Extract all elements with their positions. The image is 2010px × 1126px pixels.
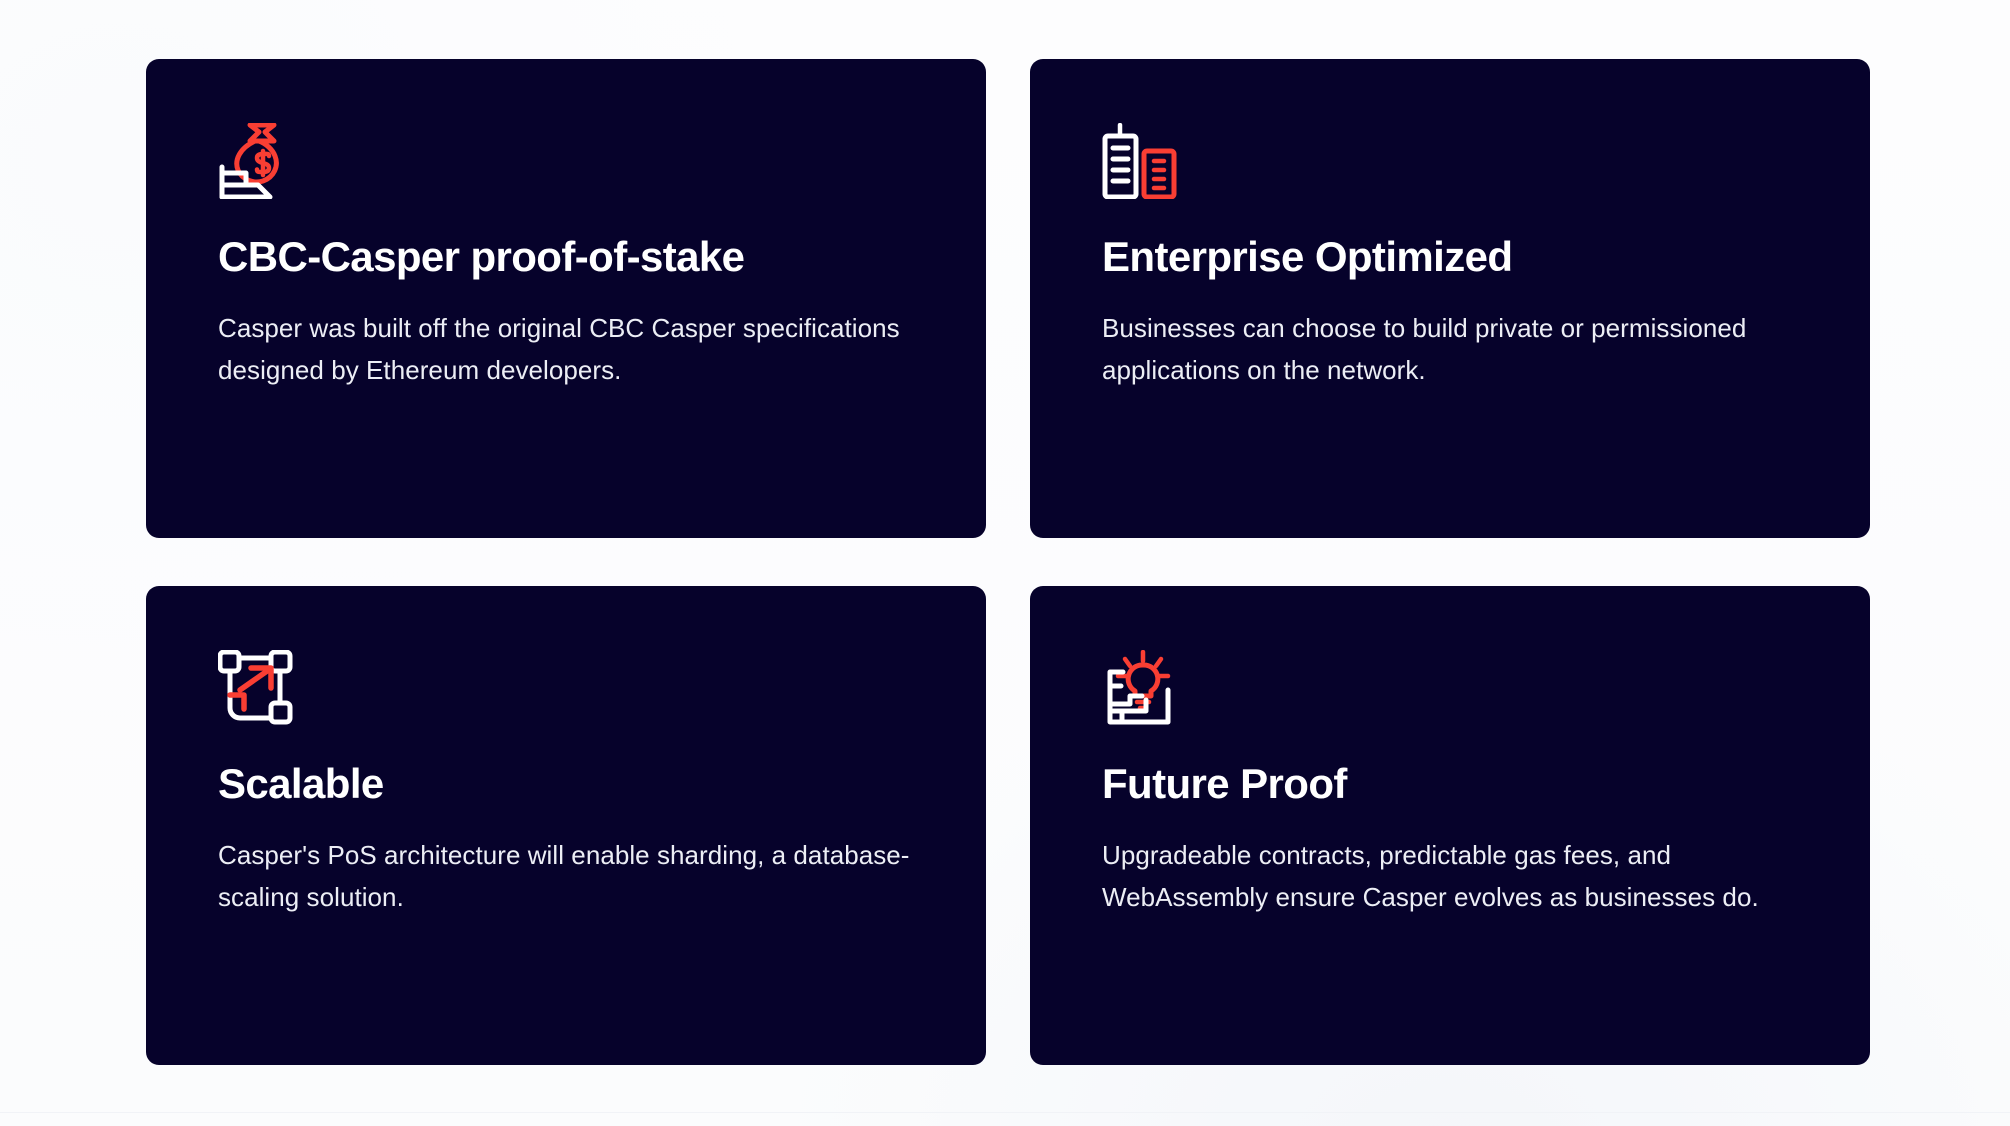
office-buildings-icon [1102,123,1184,199]
lightbulb-circuit-icon [1102,650,1184,726]
scale-arrow-icon [218,650,300,726]
feature-card-enterprise-optimized[interactable]: Enterprise Optimized Businesses can choo… [1030,59,1870,538]
feature-card-cbc-casper-proof-of-stake[interactable]: CBC-Casper proof-of-stake Casper was bui… [146,59,986,538]
card-body-text: Casper's PoS architecture will enable sh… [218,834,914,918]
card-title: Enterprise Optimized [1102,233,1798,280]
card-title: CBC-Casper proof-of-stake [218,233,914,280]
card-title: Scalable [218,760,914,807]
card-body-text: Upgradeable contracts, predictable gas f… [1102,834,1798,918]
feature-card-scalable[interactable]: Scalable Casper's PoS architecture will … [146,586,986,1065]
feature-card-future-proof[interactable]: Future Proof Upgradeable contracts, pred… [1030,586,1870,1065]
money-bag-stake-icon [218,123,300,199]
card-body-text: Businesses can choose to build private o… [1102,307,1798,391]
page-bottom-divider [0,1112,2010,1113]
card-body-text: Casper was built off the original CBC Ca… [218,307,914,391]
feature-cards-grid: CBC-Casper proof-of-stake Casper was bui… [146,59,1870,1065]
card-title: Future Proof [1102,760,1798,807]
